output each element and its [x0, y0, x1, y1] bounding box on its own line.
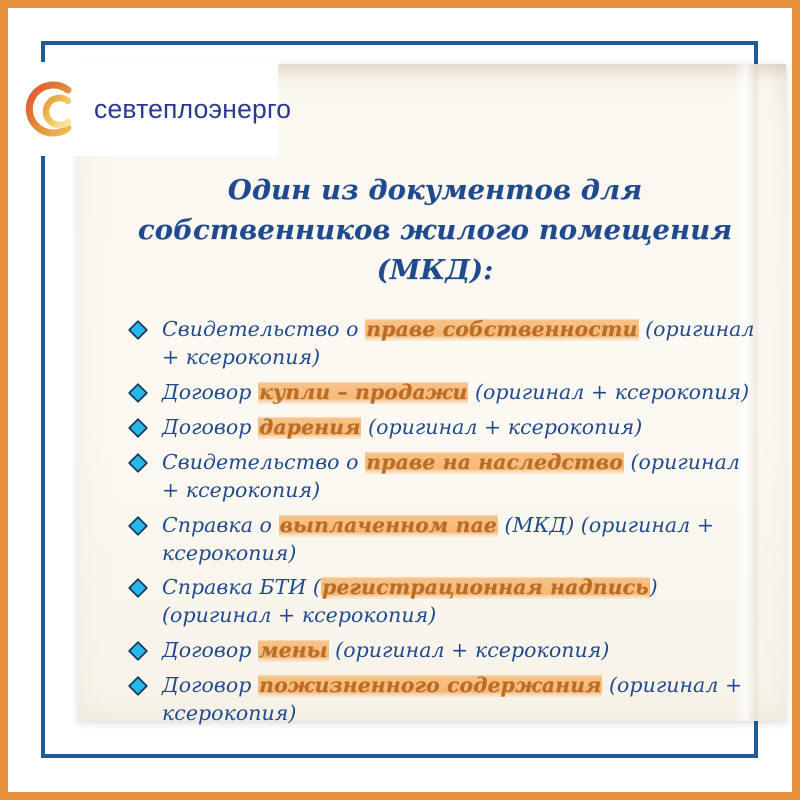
blue-diamond-bullet-icon — [128, 453, 148, 473]
list-item-text-prefix: Справка о — [162, 513, 279, 537]
list-item-highlight: дарения — [258, 415, 361, 439]
documents-list: Свидетельство о праве собственности (ори… — [102, 316, 764, 727]
list-item-text-suffix: (оригинал + ксерокопия) — [329, 638, 610, 662]
list-item-highlight: праве собственности — [365, 317, 638, 341]
list-item-text-prefix: Свидетельство о — [162, 450, 365, 474]
list-item-highlight: выплаченном пае — [279, 513, 498, 537]
sheet-content: Один из документов для собственников жил… — [78, 64, 786, 721]
list-item: Справка о выплаченном пае (МКД) (оригина… — [128, 512, 758, 568]
blue-diamond-bullet-icon — [128, 641, 148, 661]
brand-logo-plate: севтеплоэнерго — [8, 62, 278, 156]
blue-diamond-bullet-icon — [128, 320, 148, 340]
list-item-text-prefix: Договор — [162, 673, 258, 697]
list-item-text-prefix: Договор — [162, 380, 258, 404]
list-item: Свидетельство о праве собственности (ори… — [128, 316, 758, 372]
list-item-highlight: регистрационная надпись — [321, 575, 650, 599]
list-item-text-prefix: Справка БТИ ( — [162, 575, 321, 599]
list-item-highlight: мены — [258, 638, 329, 662]
list-item: Справка БТИ (регистрационная надпись) (о… — [128, 574, 758, 630]
poster-canvas: Один из документов для собственников жил… — [0, 0, 800, 800]
list-item: Договор пожизненного содержания (оригина… — [128, 672, 758, 728]
blue-diamond-bullet-icon — [128, 676, 148, 696]
blue-diamond-bullet-icon — [128, 383, 148, 403]
list-item-text-suffix: (оригинал + ксерокопия) — [361, 415, 642, 439]
brand-wordmark: севтеплоэнерго — [94, 94, 291, 125]
list-item: Договор дарения (оригинал + ксерокопия) — [128, 414, 758, 442]
list-item-highlight: купли – продажи — [258, 380, 468, 404]
list-item-text-suffix: (оригинал + ксерокопия) — [468, 380, 749, 404]
blue-diamond-bullet-icon — [128, 418, 148, 438]
double-c-swirl-logo-icon — [16, 76, 82, 142]
list-item-highlight: праве на наследство — [365, 450, 624, 474]
blue-diamond-bullet-icon — [128, 578, 148, 598]
list-item-text-prefix: Свидетельство о — [162, 317, 365, 341]
list-item-highlight: пожизненного содержания — [258, 673, 602, 697]
list-item: Договор купли – продажи (оригинал + ксер… — [128, 379, 758, 407]
blue-diamond-bullet-icon — [128, 516, 148, 536]
list-item-text-prefix: Договор — [162, 638, 258, 662]
list-item-text-prefix: Договор — [162, 415, 258, 439]
list-item: Договор мены (оригинал + ксерокопия) — [128, 637, 758, 665]
list-item: Свидетельство о праве на наследство (ори… — [128, 449, 758, 505]
